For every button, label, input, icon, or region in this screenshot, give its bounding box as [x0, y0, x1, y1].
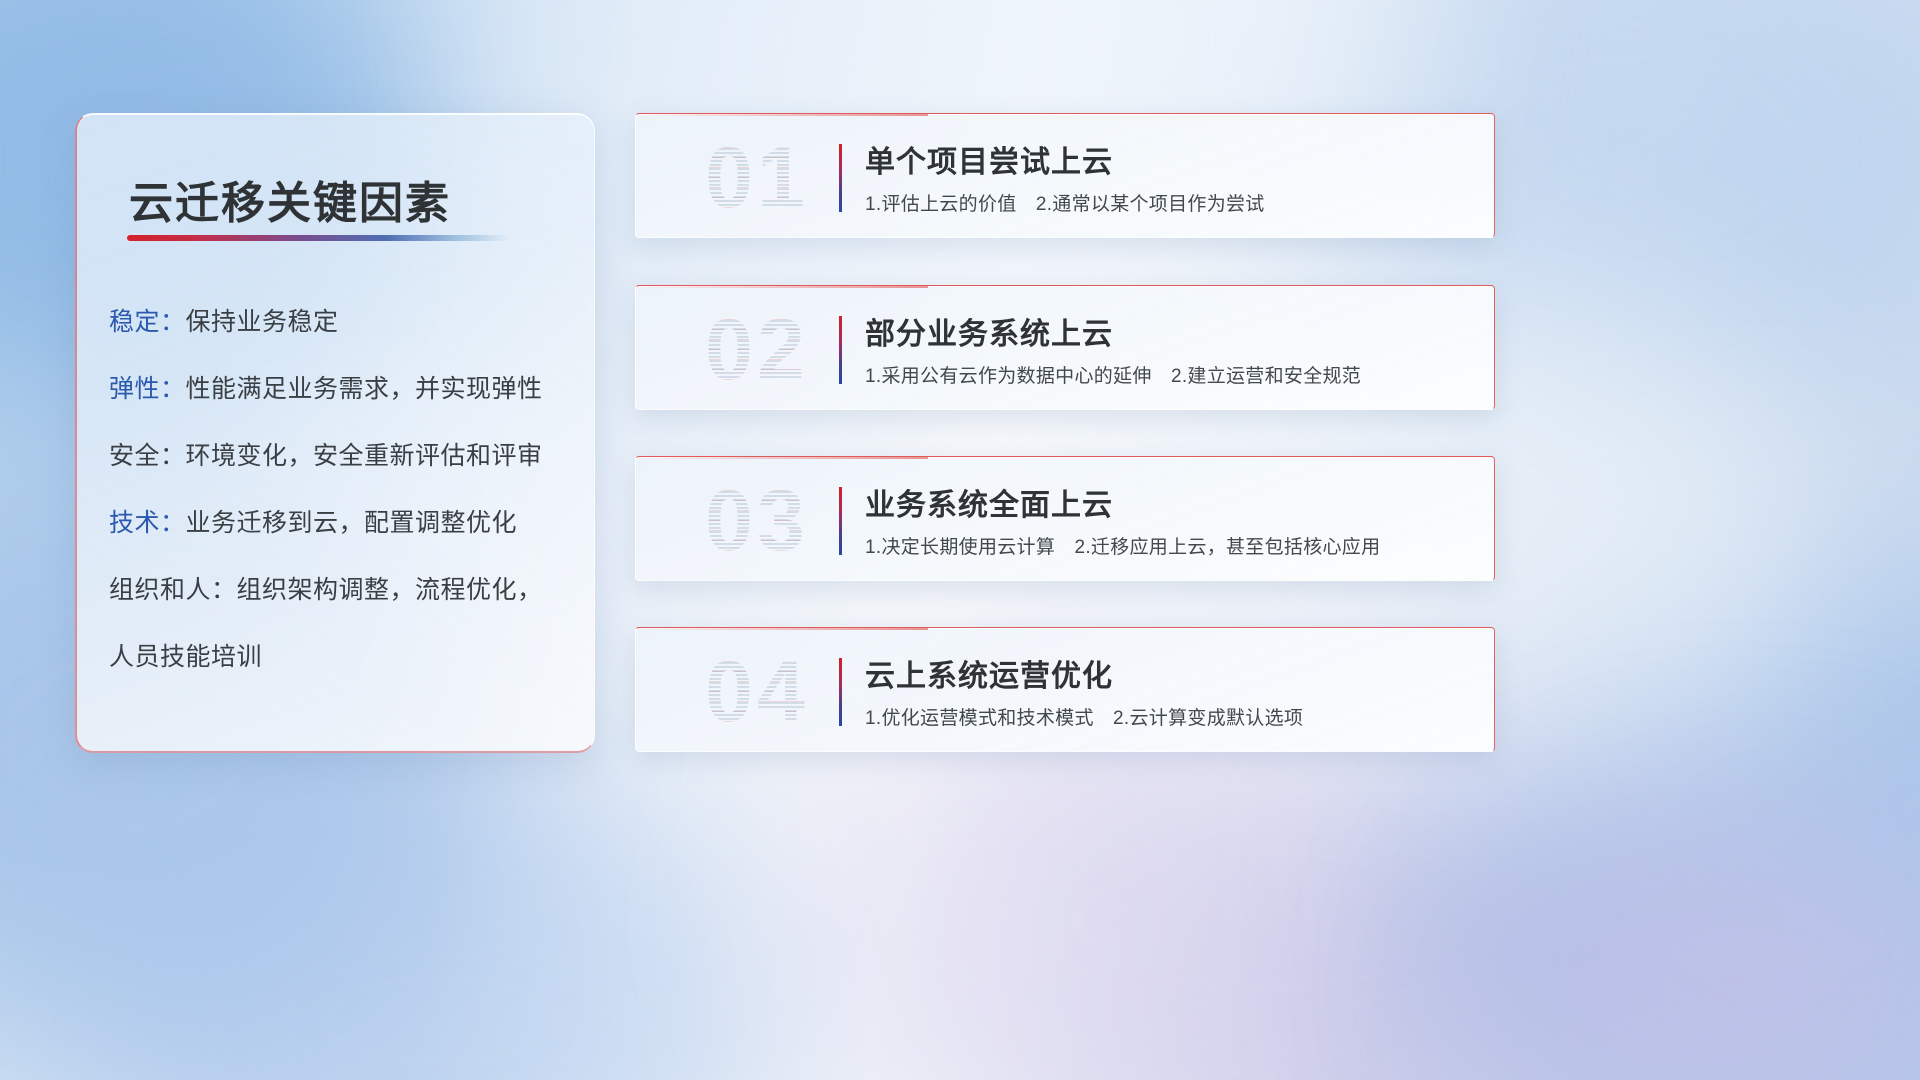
list-item-value: 环境变化，安全重新评估和评审	[186, 442, 543, 470]
stage-title: 部分业务系统上云	[865, 309, 1113, 353]
list-item-value: 保持业务稳定	[186, 308, 339, 336]
slide-stage: 云迁移关键因素 稳定：保持业务稳定 弹性：性能满足业务需求，并实现弹性 安全：环…	[0, 0, 1920, 1080]
panel-title: 云迁移关键因素	[129, 167, 451, 231]
list-item-key: 安全：	[109, 442, 186, 470]
stage-title: 单个项目尝试上云	[865, 137, 1113, 181]
stage-number-ghost: 01	[662, 128, 852, 228]
stage-number-ghost: 02	[662, 300, 852, 400]
stage-subtitle: 1.优化运营模式和技术模式 2.云计算变成默认选项	[865, 703, 1303, 730]
stage-card-02[interactable]: 02 02 部分业务系统上云 1.采用公有云作为数据中心的延伸 2.建立运营和安…	[635, 285, 1495, 410]
panel-title-underline	[127, 235, 509, 241]
stage-number-ghost: 03	[662, 471, 852, 571]
list-item-value: 人员技能培训	[109, 643, 262, 671]
list-item: 组织和人：组织架构调整，流程优化，	[109, 578, 570, 603]
key-factors-panel: 云迁移关键因素 稳定：保持业务稳定 弹性：性能满足业务需求，并实现弹性 安全：环…	[75, 113, 595, 753]
list-item-value: 性能满足业务需求，并实现弹性	[186, 375, 543, 403]
list-item-key: 组织和人：	[109, 576, 237, 604]
stage-divider	[839, 316, 842, 384]
stage-divider	[839, 144, 842, 212]
stage-subtitle: 1.采用公有云作为数据中心的延伸 2.建立运营和安全规范	[865, 361, 1361, 388]
list-item-key: 稳定：	[109, 308, 186, 336]
stage-subtitle: 1.评估上云的价值 2.通常以某个项目作为尝试	[865, 189, 1265, 216]
stage-number-ghost: 04	[662, 642, 852, 742]
stage-card-03[interactable]: 03 03 业务系统全面上云 1.决定长期使用云计算 2.迁移应用上云，甚至包括…	[635, 456, 1495, 581]
list-item: 稳定：保持业务稳定	[109, 310, 570, 335]
stage-title: 业务系统全面上云	[865, 480, 1113, 524]
list-item: 安全：环境变化，安全重新评估和评审	[109, 444, 570, 469]
list-item-value: 业务迁移到云，配置调整优化	[186, 509, 518, 537]
stage-card-01[interactable]: 01 01 单个项目尝试上云 1.评估上云的价值 2.通常以某个项目作为尝试	[635, 113, 1495, 238]
list-item-value: 组织架构调整，流程优化，	[237, 576, 543, 604]
stage-card-04[interactable]: 04 04 云上系统运营优化 1.优化运营模式和技术模式 2.云计算变成默认选项	[635, 627, 1495, 752]
list-item-continuation: 人员技能培训	[109, 645, 570, 670]
list-item-key: 弹性：	[109, 375, 186, 403]
list-item: 弹性：性能满足业务需求，并实现弹性	[109, 377, 570, 402]
list-item-key: 技术：	[109, 509, 186, 537]
list-item: 技术：业务迁移到云，配置调整优化	[109, 511, 570, 536]
key-factors-list: 稳定：保持业务稳定 弹性：性能满足业务需求，并实现弹性 安全：环境变化，安全重新…	[109, 310, 570, 670]
stage-divider	[839, 658, 842, 726]
stage-title: 云上系统运营优化	[865, 651, 1113, 695]
stage-divider	[839, 487, 842, 555]
stage-subtitle: 1.决定长期使用云计算 2.迁移应用上云，甚至包括核心应用	[865, 532, 1380, 559]
